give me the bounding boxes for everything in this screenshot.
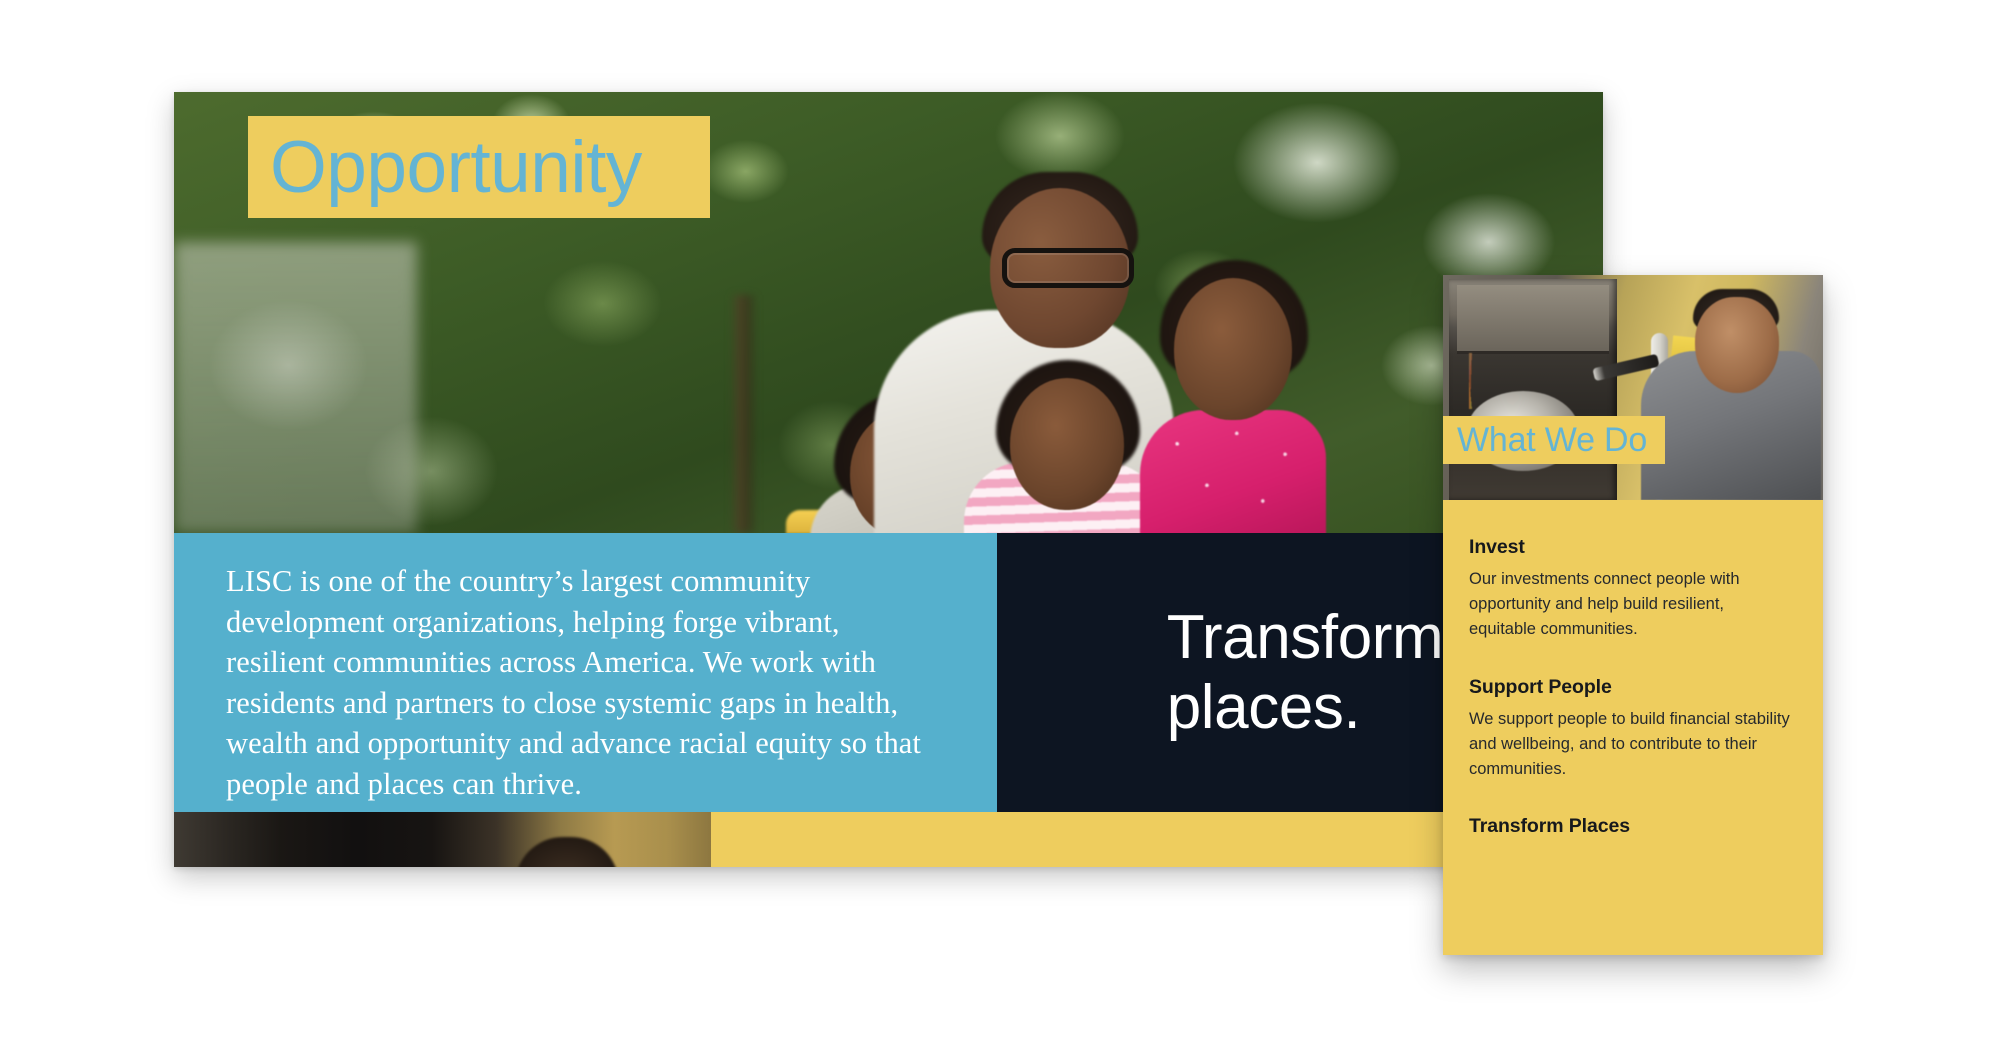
transform-line-1: Transform xyxy=(1167,603,1444,672)
transform-line-2: places. xyxy=(1167,673,1361,742)
wwd-heading-support-people: Support People xyxy=(1469,676,1793,699)
what-we-do-list: Invest Our investments connect people wi… xyxy=(1443,500,1823,955)
bottom-photo-strip xyxy=(174,812,711,867)
hero-child-right-face xyxy=(1174,278,1292,420)
hero-family-photo: Opportunity xyxy=(174,92,1603,533)
wwd-heading-transform-places: Transform Places xyxy=(1469,815,1793,838)
hero-tree-trunk xyxy=(731,295,757,533)
hero-background-wall xyxy=(174,242,417,533)
technician-photo xyxy=(1443,275,1823,500)
mission-text: LISC is one of the country’s largest com… xyxy=(226,561,945,804)
furnace-cabinet xyxy=(1449,279,1617,500)
list-item[interactable]: Transform Places xyxy=(1469,815,1793,838)
hero-adult-eyeglasses xyxy=(1002,248,1134,288)
opportunity-title: Opportunity xyxy=(270,131,642,204)
what-we-do-banner: What We Do xyxy=(1443,416,1665,464)
what-we-do-title: What We Do xyxy=(1457,423,1647,457)
list-item[interactable]: Support People We support people to buil… xyxy=(1469,676,1793,783)
bottom-photo-person-head xyxy=(515,837,619,867)
hero-child-right-torso xyxy=(1140,410,1326,533)
list-item[interactable]: Invest Our investments connect people wi… xyxy=(1469,536,1793,643)
transform-places-heading: Transform places. xyxy=(1157,603,1444,742)
main-slide-panel: Opportunity LISC is one of the country’s… xyxy=(174,92,1603,867)
wwd-heading-invest: Invest xyxy=(1469,536,1793,559)
opportunity-banner: Opportunity xyxy=(248,116,710,218)
slide-bottom-band xyxy=(174,812,1603,867)
mission-panel: LISC is one of the country’s largest com… xyxy=(174,533,997,812)
wwd-desc-invest: Our investments connect people with oppo… xyxy=(1469,567,1793,643)
what-we-do-card: What We Do Invest Our investments connec… xyxy=(1443,275,1823,955)
technician-face xyxy=(1695,297,1779,393)
hero-child-center-face xyxy=(1010,378,1124,510)
furnace-control-panel xyxy=(1457,285,1609,354)
wwd-desc-support-people: We support people to build financial sta… xyxy=(1469,707,1793,783)
